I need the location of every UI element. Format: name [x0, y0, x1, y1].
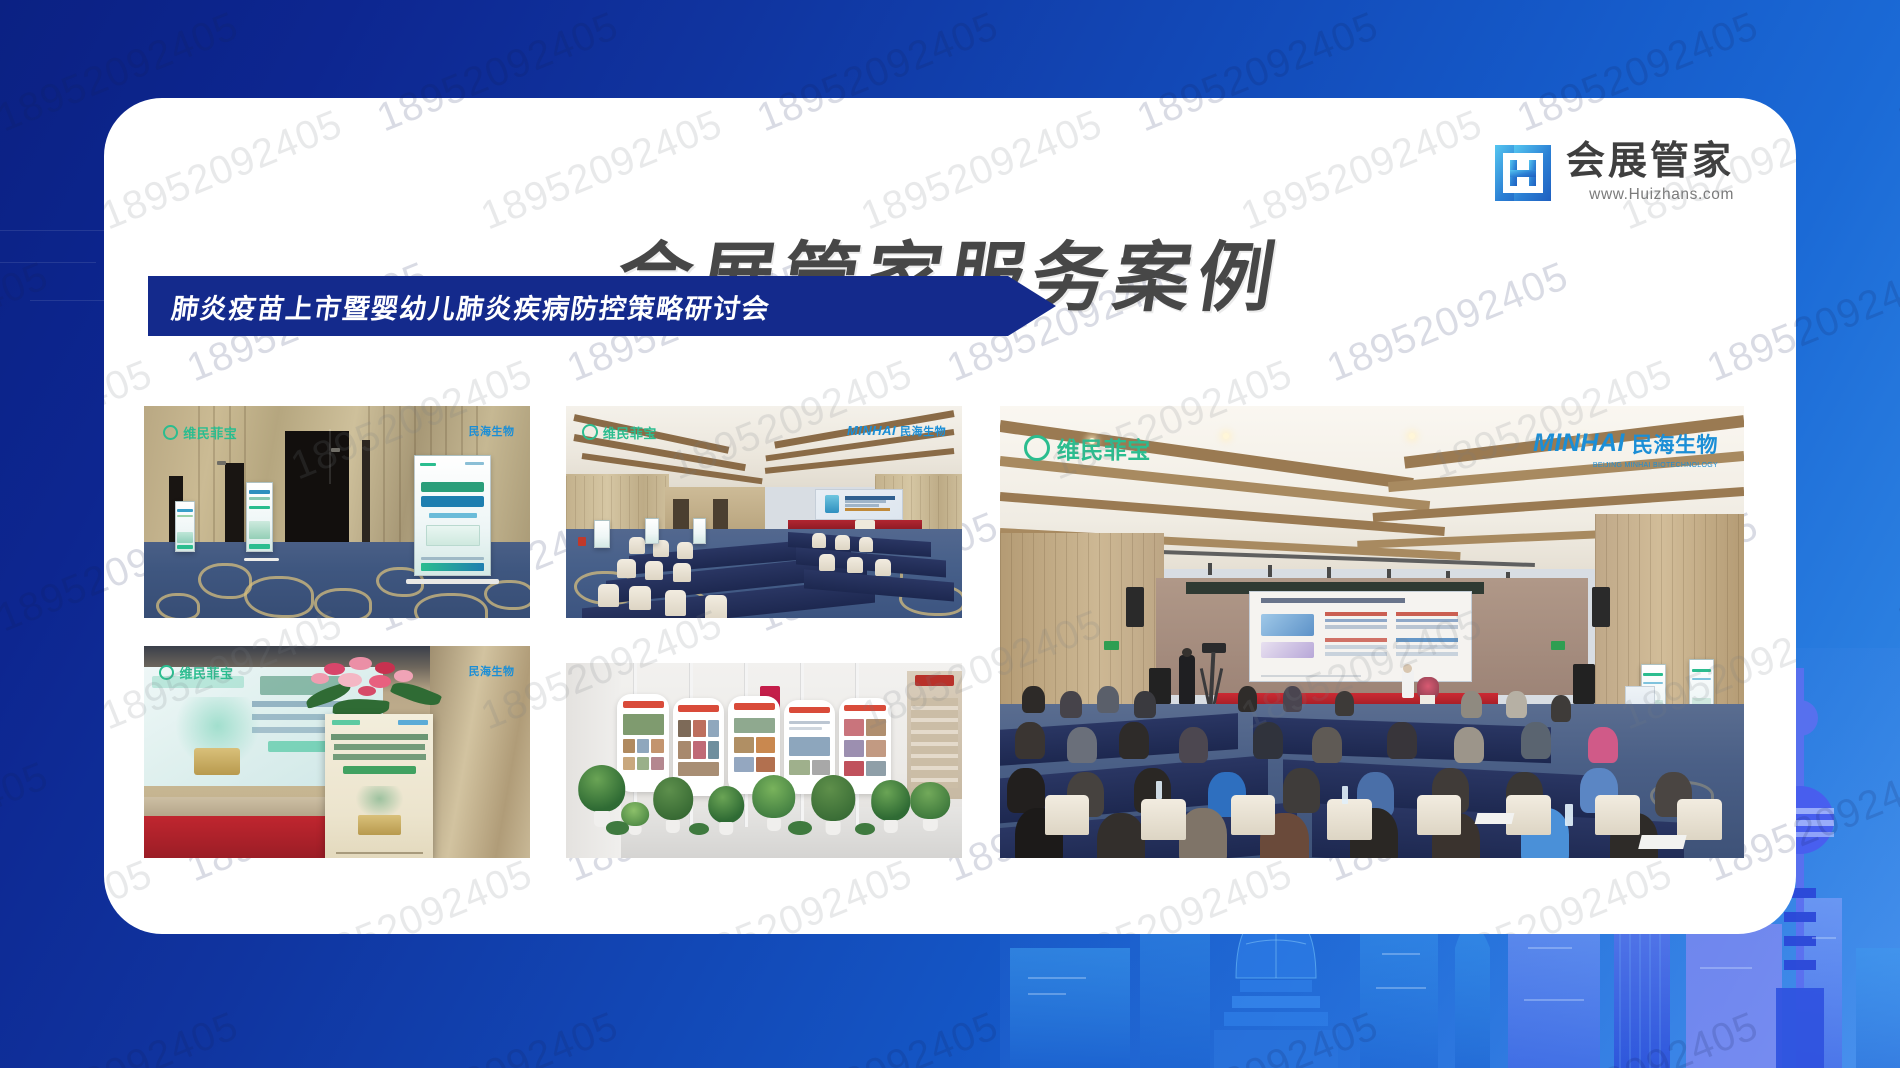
overlay-logo-green: 维民菲宝	[163, 423, 237, 442]
overlay-logo-green: 维民菲宝	[582, 423, 657, 442]
overlay-logo-blue: 民海生物	[469, 663, 515, 679]
watermark-text: 18952092405	[1891, 4, 1900, 142]
overlay-logo-blue: MINHAI 民海生物	[847, 423, 946, 439]
poster-stage: 会展管家 www.Huizhans.com 会展管家服务案例 肺炎疫苗上市暨婴幼…	[0, 0, 1900, 1068]
photo-exhibition-display[interactable]	[566, 663, 962, 858]
photo-stage-banner-flowers[interactable]: 维民菲宝 民海生物	[144, 646, 530, 858]
photo-session-in-progress[interactable]: 维民菲宝 MINHAI 民海生物 BEIJING MINHAI BIOTECHN…	[1000, 406, 1744, 858]
watermark-text: 18952092405	[0, 1004, 245, 1068]
watermark-text: 18952092405	[285, 852, 539, 934]
watermark-text: 18952092405	[1045, 852, 1299, 934]
bg-glow-line	[0, 262, 96, 263]
watermark-text: 18952092405	[751, 1004, 1005, 1068]
photo-venue-entrance[interactable]: 维民菲宝 民海生物	[144, 406, 530, 618]
content-card: 会展管家 www.Huizhans.com 会展管家服务案例 肺炎疫苗上市暨婴幼…	[104, 98, 1796, 934]
overlay-logo-green: 维民菲宝	[1024, 431, 1151, 465]
watermark-text: 18952092405	[0, 754, 55, 892]
overlay-logo-blue: 民海生物	[469, 423, 515, 439]
photo-empty-conference-hall[interactable]: 维民菲宝 MINHAI 民海生物	[566, 406, 962, 618]
brand-website: www.Huizhans.com	[1566, 186, 1734, 204]
watermark-text: 18952092405	[665, 852, 919, 934]
ribbon-label: 肺炎疫苗上市暨婴幼儿肺炎疾病防控策略研讨会	[168, 276, 775, 336]
watermark-text: 18952092405	[1425, 852, 1679, 934]
watermark-text: 18952092405	[104, 852, 159, 934]
brand-name: 会展管家	[1566, 142, 1734, 183]
event-ribbon: 肺炎疫苗上市暨婴幼儿肺炎疾病防控策略研讨会	[148, 276, 1056, 336]
overlay-logo-green: 维民菲宝	[159, 663, 233, 682]
watermark-text: 18952092405	[1891, 504, 1900, 642]
overlay-logo-blue: MINHAI 民海生物 BEIJING MINHAI BIOTECHNOLOGY	[1533, 429, 1718, 469]
brand-logo: 会展管家 www.Huizhans.com	[1492, 142, 1734, 204]
huizhans-square-h-logo-icon	[1492, 142, 1554, 204]
watermark-text: 18952092405	[371, 1004, 625, 1068]
watermark-text: 18952092405	[0, 254, 55, 392]
cameraman	[1179, 655, 1195, 705]
